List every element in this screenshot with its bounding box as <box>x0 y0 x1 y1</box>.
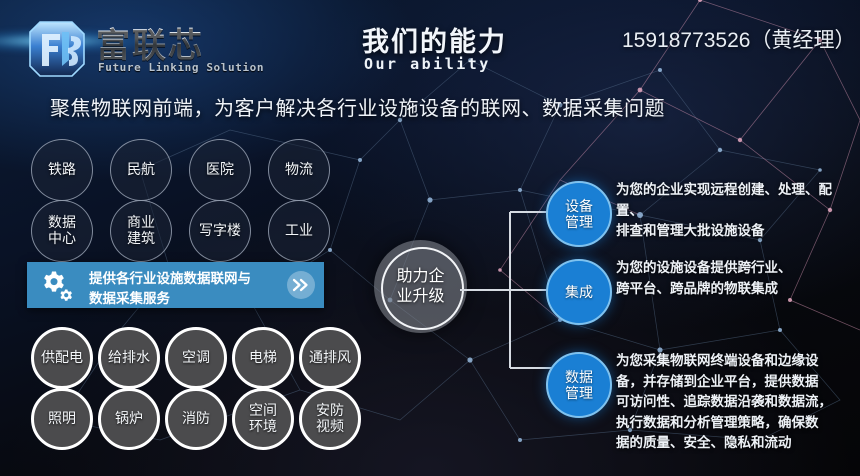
system-circle-7[interactable]: 消防 <box>165 388 227 450</box>
system-circle-0[interactable]: 供配电 <box>31 327 93 389</box>
industry-circle-5[interactable]: 商业建筑 <box>110 200 172 262</box>
pill-label: 电梯 <box>249 350 277 366</box>
capability-description-0: 为您的企业实现远程创建、处理、配置、排查和管理大批设施设备 <box>616 180 856 242</box>
gear-icon <box>39 269 73 301</box>
pill-label: 写字楼 <box>199 223 241 239</box>
pill-label: 消防 <box>182 411 210 427</box>
pill-label: 民航 <box>127 162 155 178</box>
brand-tagline-en: Future Linking Solution <box>98 61 264 74</box>
service-banner[interactable]: 提供各行业设施数据联网与 数据采集服务 <box>27 262 324 308</box>
brand-name-cn: 富联芯 <box>96 18 204 67</box>
industry-circle-2[interactable]: 医院 <box>189 139 251 201</box>
system-circle-3[interactable]: 电梯 <box>232 327 294 389</box>
pill-label: 工业 <box>285 223 313 239</box>
pill-label: 照明 <box>48 411 76 427</box>
pill-label: 商业建筑 <box>127 215 155 246</box>
capability-description-2: 为您采集物联网终端设备和边缘设备，并存储到企业平台，提供数据可访问性、追踪数据沿… <box>616 351 856 454</box>
service-banner-text: 提供各行业设施数据联网与 数据采集服务 <box>89 269 274 308</box>
industry-circle-4[interactable]: 数据中心 <box>31 200 93 262</box>
capability-node-label: 集成 <box>565 284 593 300</box>
pill-label: 锅炉 <box>115 411 143 427</box>
service-banner-line1: 提供各行业设施数据联网与 <box>89 269 274 289</box>
fls-monogram-icon <box>26 18 92 80</box>
pill-label: 供配电 <box>41 350 83 366</box>
capability-slide: 富联芯 Future Linking Solution 我们的能力 Our ab… <box>0 0 860 476</box>
pill-label: 铁路 <box>48 162 76 178</box>
system-circle-5[interactable]: 照明 <box>31 388 93 450</box>
capability-node-0[interactable]: 设备管理 <box>546 181 612 247</box>
hub-circle: 助力企业升级 <box>374 240 467 333</box>
pill-label: 空调 <box>182 350 210 366</box>
double-chevron-right-icon <box>292 278 310 292</box>
industry-circle-1[interactable]: 民航 <box>110 139 172 201</box>
capability-description-1: 为您的设施设备提供跨行业、跨平台、跨品牌的物联集成 <box>616 258 856 299</box>
capability-node-2[interactable]: 数据管理 <box>546 352 612 418</box>
capability-node-label: 数据管理 <box>565 369 593 401</box>
service-banner-line2: 数据采集服务 <box>89 289 274 309</box>
industry-circle-0[interactable]: 铁路 <box>31 139 93 201</box>
pill-label: 医院 <box>206 162 234 178</box>
system-circle-2[interactable]: 空调 <box>165 327 227 389</box>
contact-phone: 15918773526（黄经理） <box>622 24 855 54</box>
pill-label: 物流 <box>285 162 313 178</box>
system-circle-8[interactable]: 空间环境 <box>232 388 294 450</box>
system-circle-6[interactable]: 锅炉 <box>98 388 160 450</box>
pill-label: 安防视频 <box>316 403 344 434</box>
system-circle-4[interactable]: 通排风 <box>299 327 361 389</box>
pill-label: 给排水 <box>108 350 150 366</box>
system-circle-1[interactable]: 给排水 <box>98 327 160 389</box>
industry-circle-3[interactable]: 物流 <box>268 139 330 201</box>
capability-node-label: 设备管理 <box>565 198 593 230</box>
pill-label: 空间环境 <box>249 403 277 434</box>
industry-circle-7[interactable]: 工业 <box>268 200 330 262</box>
page-title-en: Our ability <box>364 55 491 73</box>
hub-label: 助力企业升级 <box>392 267 450 305</box>
system-circle-9[interactable]: 安防视频 <box>299 388 361 450</box>
capability-node-1[interactable]: 集成 <box>546 259 612 325</box>
industry-circle-6[interactable]: 写字楼 <box>189 200 251 262</box>
pill-label: 通排风 <box>309 350 351 366</box>
pill-label: 数据中心 <box>48 215 76 246</box>
brand-logo: 富联芯 Future Linking Solution <box>22 16 262 86</box>
page-title-cn: 我们的能力 <box>362 20 507 59</box>
page-subtitle: 聚焦物联网前端，为客户解决各行业设施设备的联网、数据采集问题 <box>50 92 665 121</box>
next-button[interactable] <box>287 271 315 299</box>
